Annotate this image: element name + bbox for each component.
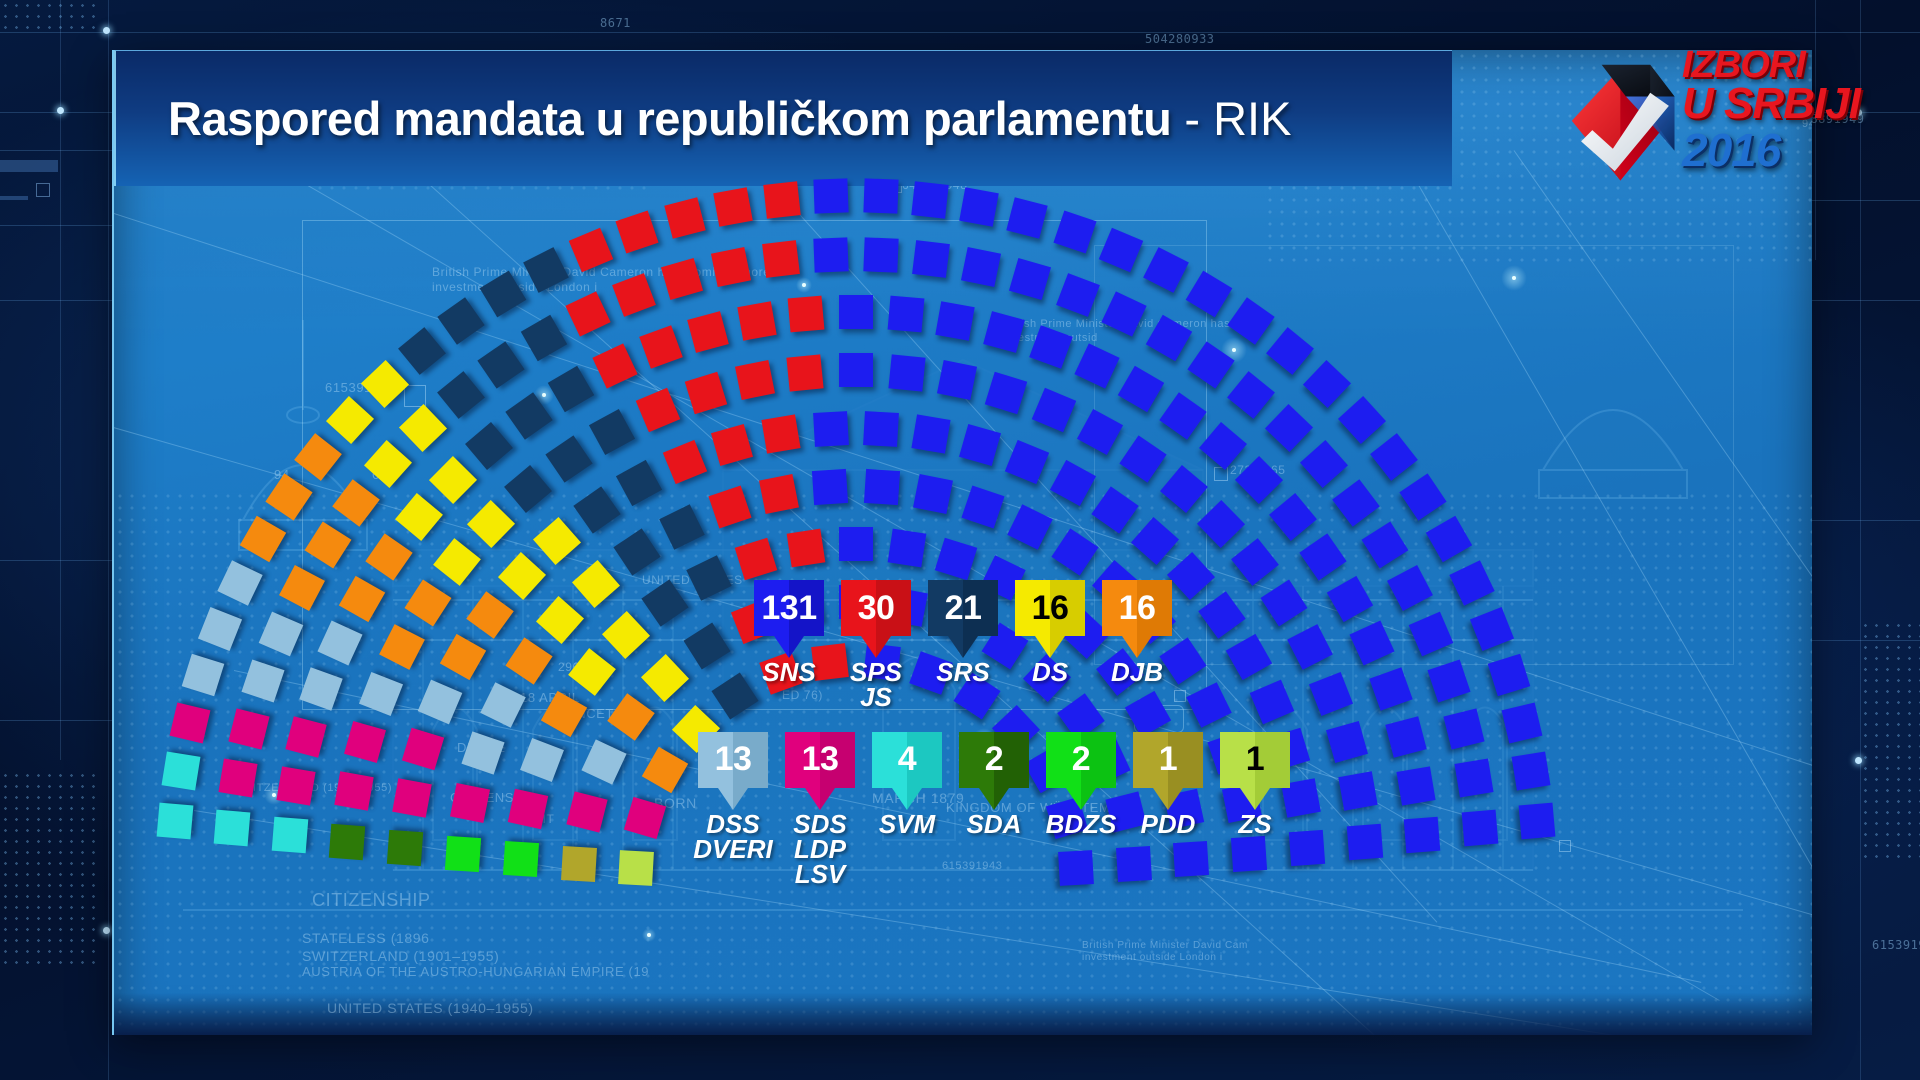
parliament-seat: [379, 624, 425, 670]
parliament-seat: [687, 311, 729, 353]
parliament-seat: [339, 576, 385, 622]
legend-party-item[interactable]: 16DS: [1015, 580, 1085, 685]
parliament-seat: [735, 360, 775, 400]
parliament-seat: [786, 528, 825, 567]
badge-tip-right: [820, 788, 835, 810]
parliament-seat: [864, 469, 900, 505]
parliament-seat: [1338, 396, 1386, 444]
decor-square-mark: [36, 183, 50, 197]
parliament-seat: [1009, 258, 1051, 300]
party-abbreviation-label: DJB: [1111, 660, 1163, 685]
parliament-seat: [462, 731, 505, 774]
parliament-seat: [573, 486, 620, 533]
parliament-seat: [686, 555, 731, 600]
decor-dot-grid: [1860, 620, 1920, 860]
badge-tip-right: [789, 636, 804, 658]
badge-tip-right: [1050, 636, 1065, 658]
parliament-seat: [612, 273, 656, 317]
seat-count-badge: 16: [1102, 580, 1172, 636]
seat-count-value: 2: [985, 740, 1003, 779]
decor-bar-mark: [0, 196, 28, 200]
parliament-seat: [404, 580, 451, 627]
parliament-seat: [1449, 560, 1494, 605]
parliament-seat: [402, 728, 444, 770]
parliament-seat: [480, 683, 526, 729]
parliament-seat: [395, 493, 443, 541]
parliament-seat: [763, 181, 800, 218]
parliament-seat: [161, 752, 200, 791]
parliament-seat: [624, 796, 666, 838]
party-abbreviation-label: SPS JS: [850, 660, 902, 710]
parliament-seat: [659, 504, 705, 550]
parliament-seat: [888, 354, 925, 391]
parliament-seat: [286, 716, 327, 757]
parliament-seat: [359, 672, 403, 716]
parliament-seat-diagram: [114, 50, 1812, 1035]
parliament-seat: [1199, 422, 1247, 470]
parliament-seat: [1075, 343, 1120, 388]
parliament-seat: [1231, 538, 1279, 586]
decor-code-text: 615391943: [1872, 938, 1920, 952]
parliament-seat: [839, 295, 873, 329]
parliament-seat: [507, 788, 547, 828]
parliament-seat: [182, 654, 225, 697]
parliament-seat: [1299, 533, 1346, 580]
parliament-seat: [762, 240, 800, 278]
parliament-seat: [787, 354, 824, 391]
parliament-seat: [272, 817, 309, 854]
badge-tip-left: [979, 788, 994, 810]
badge-tip-left: [948, 636, 963, 658]
parliament-seat: [1032, 388, 1077, 433]
seat-count-badge: 13: [785, 732, 855, 788]
parliament-seat: [839, 527, 873, 561]
parliament-seat: [983, 311, 1025, 353]
badge-tip-right: [994, 788, 1009, 810]
parliament-seat: [334, 772, 373, 811]
legend-party-item[interactable]: 1PDD: [1133, 732, 1203, 837]
parliament-seat: [1370, 434, 1418, 482]
parliament-seat: [887, 528, 926, 567]
parliament-seat: [636, 388, 681, 433]
party-abbreviation-label: BDZS: [1046, 812, 1117, 837]
parliament-seat: [683, 622, 730, 669]
parliament-seat: [788, 296, 825, 333]
legend-row-primary: 131SNS30SPS JS21SRS16DS16DJB: [754, 580, 1454, 710]
parliament-seat: [1332, 479, 1380, 527]
badge-tip-left: [1122, 636, 1137, 658]
parliament-seat: [361, 360, 409, 408]
seat-count-badge: 131: [754, 580, 824, 636]
parliament-seat: [711, 673, 758, 720]
parliament-seat: [198, 606, 242, 650]
party-abbreviation-label: SNS: [762, 660, 815, 685]
parliament-seat: [1160, 392, 1207, 439]
logo-line-3: 2016: [1682, 123, 1860, 177]
parliament-seat: [1399, 474, 1446, 521]
badge-tip-left: [718, 788, 733, 810]
parliament-seat: [299, 668, 342, 711]
parliament-seat: [504, 465, 552, 513]
parliament-seat: [1197, 500, 1245, 548]
parliament-seat: [813, 237, 848, 272]
decor-node-dot: [103, 927, 110, 934]
parliament-seat: [561, 846, 597, 882]
legend-party-item[interactable]: 4SVM: [872, 732, 942, 837]
badge-tip-right: [907, 788, 922, 810]
decor-vline: [60, 0, 61, 760]
seat-count-value: 4: [898, 740, 916, 779]
legend-party-item[interactable]: 30SPS JS: [841, 580, 911, 710]
parliament-seat: [240, 516, 286, 562]
parliament-seat: [911, 415, 950, 454]
decor-dot-grid: [0, 770, 100, 970]
seat-count-value: 30: [858, 589, 895, 628]
decor-vline: [108, 0, 109, 1080]
badge-tip-left: [861, 636, 876, 658]
badge-tip-left: [805, 788, 820, 810]
parliament-seat: [276, 766, 315, 805]
main-content-panel: British Prime Minister David Cameron has…: [112, 50, 1812, 1035]
parliament-seat: [445, 835, 481, 871]
parliament-seat: [332, 479, 380, 527]
parliament-seat: [497, 552, 545, 600]
parliament-seat: [614, 529, 661, 576]
parliament-seat: [479, 271, 526, 318]
parliament-seat: [639, 325, 683, 369]
legend-party-item[interactable]: 2BDZS: [1046, 732, 1116, 837]
parliament-seat: [398, 327, 446, 375]
parliament-seat: [547, 366, 593, 412]
parliament-seat: [1235, 456, 1283, 504]
party-legend: 131SNS30SPS JS21SRS16DS16DJB 13DSS DVERI…: [754, 580, 1454, 887]
parliament-seat: [1470, 606, 1514, 650]
parliament-seat: [520, 738, 564, 782]
seat-count-value: 13: [715, 740, 752, 779]
parliament-seat: [1053, 210, 1096, 253]
decor-hline: [0, 32, 1920, 33]
seat-count-badge: 1: [1133, 732, 1203, 788]
parliament-seat: [329, 824, 365, 860]
parliament-seat: [1143, 247, 1189, 293]
parliament-seat: [219, 759, 258, 798]
seat-count-badge: 1: [1220, 732, 1290, 788]
parliament-seat: [1099, 227, 1144, 272]
parliament-seat: [170, 702, 211, 743]
parliament-seat: [1512, 752, 1551, 791]
logo-wordmark: IZBORI U SRBIJI 2016: [1682, 44, 1860, 177]
parliament-seat: [503, 841, 539, 877]
parliament-seat: [1120, 435, 1167, 482]
parliament-seat: [294, 434, 342, 482]
parliament-seat: [1519, 802, 1556, 839]
parliament-seat: [523, 247, 569, 293]
parliament-seat: [429, 456, 477, 504]
parliament-seat: [813, 411, 849, 447]
parliament-seat: [1050, 460, 1096, 506]
parliament-seat: [572, 560, 620, 608]
parliament-seat: [477, 341, 524, 388]
badge-tip-left: [1066, 788, 1081, 810]
parliament-seat: [661, 258, 703, 300]
parliament-seat: [1361, 521, 1408, 568]
parliament-seat: [708, 485, 751, 528]
seat-count-value: 16: [1119, 589, 1156, 628]
parliament-seat: [959, 187, 999, 227]
parliament-seat: [1454, 759, 1493, 798]
parliament-seat: [1007, 504, 1053, 550]
parliament-seat: [1056, 273, 1100, 317]
ballot-cube-checkmark-icon: [1560, 48, 1690, 188]
parliament-seat: [1101, 292, 1146, 337]
parliament-seat: [961, 247, 1001, 287]
parliament-seat: [864, 237, 899, 272]
party-abbreviation-label: SDS LDP LSV: [793, 812, 846, 887]
party-abbreviation-label: SRS: [936, 660, 989, 685]
parliament-seat: [536, 596, 584, 644]
parliament-seat: [911, 181, 948, 218]
party-abbreviation-label: PDD: [1141, 812, 1196, 837]
parliament-seat: [1005, 440, 1049, 484]
parliament-seat: [1266, 327, 1314, 375]
legend-party-item[interactable]: 1ZS: [1220, 732, 1290, 837]
parliament-seat: [214, 810, 251, 847]
parliament-seat: [437, 371, 485, 419]
parliament-seat: [1269, 493, 1317, 541]
legend-party-item[interactable]: 16DJB: [1102, 580, 1172, 685]
party-abbreviation-label: DS: [1032, 660, 1068, 685]
parliament-seat: [1501, 702, 1542, 743]
parliament-seat: [1487, 654, 1530, 697]
parliament-seat: [985, 371, 1028, 414]
parliament-seat: [156, 802, 193, 839]
parliament-seat: [344, 721, 386, 763]
parliament-seat: [467, 500, 515, 548]
parliament-seat: [418, 680, 463, 725]
parliament-seat: [1092, 486, 1139, 533]
party-abbreviation-label: DSS DVERI: [693, 812, 772, 862]
badge-tip-right: [1168, 788, 1183, 810]
seat-count-value: 131: [761, 589, 816, 628]
parliament-seat: [265, 474, 312, 521]
decor-code-text: 8671: [600, 16, 631, 30]
parliament-seat: [662, 440, 706, 484]
seat-count-value: 1: [1246, 740, 1264, 779]
parliament-seat: [1300, 440, 1348, 488]
parliament-seat: [1051, 529, 1098, 576]
decor-code-text: 504280933: [1145, 32, 1215, 46]
decor-node-dot: [103, 27, 110, 34]
parliament-seat: [1227, 298, 1274, 345]
parliament-seat: [569, 227, 614, 272]
parliament-seat: [433, 538, 481, 586]
parliament-seat: [241, 659, 284, 702]
parliament-seat: [642, 580, 689, 627]
parliament-seat: [711, 424, 753, 466]
parliament-seat: [217, 560, 262, 605]
parliament-seat: [863, 411, 899, 447]
badge-tip-right: [876, 636, 891, 658]
parliament-seat: [913, 474, 953, 514]
logo-line-2: U SRBIJI: [1682, 79, 1860, 129]
parliament-seat: [1265, 404, 1313, 452]
decor-dot-grid: [0, 0, 100, 30]
parliament-seat: [839, 353, 873, 387]
parliament-seat: [711, 247, 751, 287]
parliament-seat: [737, 301, 776, 340]
legend-party-item[interactable]: 2SDA: [959, 732, 1029, 837]
badge-tip-left: [774, 636, 789, 658]
parliament-seat: [1007, 197, 1048, 238]
seat-count-value: 21: [945, 589, 982, 628]
parliament-seat: [1029, 325, 1073, 369]
parliament-seat: [1131, 517, 1179, 565]
parliament-seat: [735, 538, 778, 581]
parliament-seat: [592, 343, 637, 388]
parliament-seat: [364, 440, 412, 488]
party-abbreviation-label: SVM: [879, 812, 935, 837]
parliament-seat: [616, 210, 659, 253]
parliament-seat: [607, 693, 654, 740]
seat-count-value: 1: [1159, 740, 1177, 779]
parliament-seat: [937, 360, 977, 400]
parliament-seat: [602, 611, 650, 659]
badge-tip-left: [1035, 636, 1050, 658]
badge-tip-right: [1081, 788, 1096, 810]
parliament-seat: [1186, 271, 1233, 318]
parliament-seat: [1303, 360, 1351, 408]
parliament-seat: [935, 538, 978, 581]
parliament-seat: [387, 830, 423, 866]
decor-node-dot: [57, 107, 64, 114]
parliament-seat: [279, 565, 325, 611]
parliament-seat: [540, 691, 586, 737]
badge-tip-right: [1255, 788, 1270, 810]
parliament-seat: [440, 634, 486, 680]
decor-bar-mark: [0, 160, 58, 172]
parliament-seat: [392, 778, 432, 818]
seat-count-value: 16: [1032, 589, 1069, 628]
parliament-seat: [565, 292, 610, 337]
parliament-seat: [533, 517, 581, 565]
parliament-seat: [759, 474, 799, 514]
parliament-seat: [581, 740, 626, 785]
parliament-seat: [684, 371, 727, 414]
legend-party-item[interactable]: 21SRS: [928, 580, 998, 685]
seat-count-badge: 13: [698, 732, 768, 788]
badge-tip-right: [733, 788, 748, 810]
parliament-seat: [935, 301, 974, 340]
parliament-seat: [1145, 314, 1191, 360]
seat-count-badge: 21: [928, 580, 998, 636]
parliament-seat: [437, 298, 484, 345]
parliament-seat: [616, 460, 662, 506]
parliament-seat: [642, 747, 688, 793]
parliament-seat: [761, 415, 800, 454]
parliament-seat: [713, 187, 753, 227]
parliament-seat: [258, 611, 303, 656]
badge-tip-left: [892, 788, 907, 810]
legend-party-item[interactable]: 131SNS: [754, 580, 824, 685]
seat-count-badge: 4: [872, 732, 942, 788]
parliament-seat: [450, 783, 490, 823]
parliament-seat: [568, 649, 616, 697]
parliament-seat: [365, 533, 412, 580]
parliament-seat: [1077, 409, 1123, 455]
seat-count-value: 2: [1072, 740, 1090, 779]
parliament-seat: [912, 240, 950, 278]
parliament-seat: [589, 409, 635, 455]
parliament-seat: [1227, 371, 1275, 419]
seat-count-badge: 30: [841, 580, 911, 636]
legend-row-secondary: 13DSS DVERI13SDS LDP LSV4SVM2SDA2BDZS1PD…: [698, 732, 1454, 887]
badge-tip-left: [1153, 788, 1168, 810]
party-abbreviation-label: SDA: [967, 812, 1022, 837]
parliament-seat: [814, 179, 849, 214]
parliament-seat: [326, 396, 374, 444]
parliament-seat: [1426, 516, 1472, 562]
election-logo: IZBORI U SRBIJI 2016: [1560, 38, 1880, 193]
parliament-seat: [887, 296, 924, 333]
parliament-seat: [399, 404, 447, 452]
parliament-seat: [545, 435, 592, 482]
parliament-seat: [505, 392, 552, 439]
parliament-seat: [1160, 465, 1208, 513]
seat-count-badge: 16: [1015, 580, 1085, 636]
seat-count-value: 13: [802, 740, 839, 779]
parliament-seat: [664, 197, 705, 238]
parliament-seat: [317, 621, 362, 666]
legend-party-item[interactable]: 13DSS DVERI: [698, 732, 768, 862]
parliament-seat: [812, 469, 848, 505]
parliament-seat: [466, 591, 513, 638]
badge-tip-right: [963, 636, 978, 658]
parliament-seat: [961, 485, 1004, 528]
parliament-seat: [1187, 341, 1234, 388]
parliament-seat: [641, 654, 689, 702]
parliament-seat: [863, 179, 898, 214]
legend-party-item[interactable]: 13SDS LDP LSV: [785, 732, 855, 887]
parliament-seat: [618, 850, 654, 886]
badge-tip-left: [1240, 788, 1255, 810]
parliament-seat: [505, 637, 552, 684]
parliament-seat: [228, 708, 269, 749]
seat-count-badge: 2: [1046, 732, 1116, 788]
parliament-seat: [959, 424, 1001, 466]
parliament-seat: [1118, 366, 1164, 412]
parliament-seat: [1461, 810, 1498, 847]
badge-tip-right: [1137, 636, 1152, 658]
seat-count-badge: 2: [959, 732, 1029, 788]
party-abbreviation-label: ZS: [1238, 812, 1271, 837]
parliament-seat: [304, 521, 351, 568]
parliament-seat: [566, 791, 607, 832]
parliament-seat: [465, 422, 513, 470]
parliament-seat: [520, 314, 566, 360]
